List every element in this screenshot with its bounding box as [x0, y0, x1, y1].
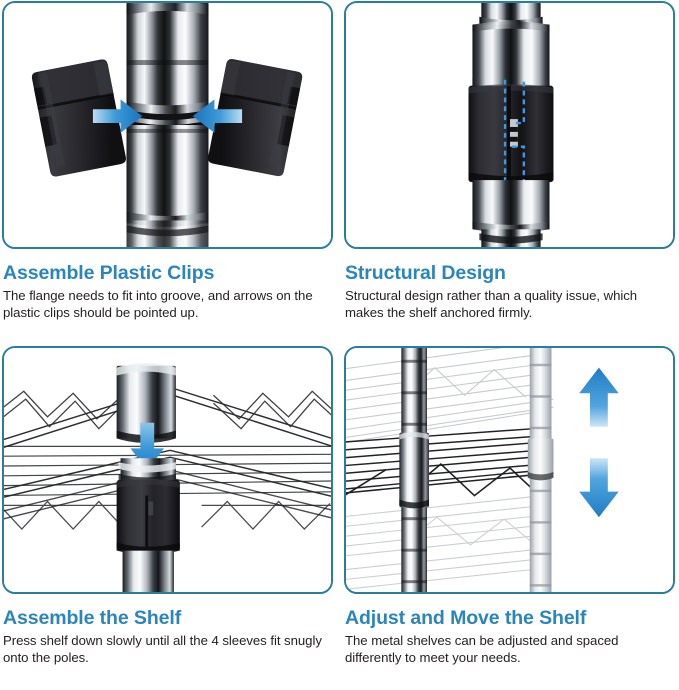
illustration-panel-structural: [344, 1, 675, 249]
step-card-assemble-the-shelf: Assemble the Shelf Press shelf down slow…: [0, 345, 337, 690]
panel-body-text: The metal shelves can be adjusted and sp…: [345, 633, 672, 667]
pole-left: [399, 348, 429, 592]
assembled-black-sleeve-on-pole-illustration: [346, 3, 673, 247]
panel-heading: Assemble the Shelf: [3, 608, 333, 630]
panel-grid: Assemble Plastic Clips The flange needs …: [0, 0, 679, 690]
panel-heading: Adjust and Move the Shelf: [345, 608, 675, 630]
step-card-adjust-and-move: Adjust and Move the Shelf The metal shel…: [342, 345, 679, 690]
panel-body-text: Structural design rather than a quality …: [345, 288, 672, 322]
pole-right: [528, 348, 554, 592]
panel-heading: Structural Design: [345, 263, 675, 285]
pole-upper-section: [127, 3, 209, 116]
caption-block-adjust: Adjust and Move the Shelf The metal shel…: [345, 608, 675, 667]
illustration-panel-adjust: [344, 346, 675, 594]
caption-block-clips: Assemble Plastic Clips The flange needs …: [3, 263, 333, 322]
panel-body-text: Press shelf down slowly until all the 4 …: [3, 633, 330, 667]
assembled-black-sleeve: [469, 84, 554, 184]
pole-lower-wide: [472, 180, 549, 247]
chrome-pole-with-two-black-clips-illustration: [4, 3, 331, 247]
wire-shelf-pressed-onto-pole-illustration: [4, 348, 331, 592]
caption-block-shelf-press: Assemble the Shelf Press shelf down slow…: [3, 608, 333, 667]
illustration-panel-clips: [2, 1, 333, 249]
step-card-structural-design: Structural Design Structural design rath…: [342, 0, 679, 345]
pole-upper-wide: [472, 21, 549, 89]
pole-with-black-clip: [117, 458, 180, 592]
panel-body-text: The flange needs to fit into groove, and…: [3, 288, 330, 322]
shelving-unit-height-adjustment-illustration: [346, 348, 673, 592]
caption-block-structural: Structural Design Structural design rath…: [345, 263, 675, 322]
illustration-panel-shelf-press: [2, 346, 333, 594]
pole-lower-section: [127, 125, 209, 247]
infographic-sheet: Assemble Plastic Clips The flange needs …: [0, 0, 679, 690]
step-card-assemble-plastic-clips: Assemble Plastic Clips The flange needs …: [0, 0, 337, 345]
panel-heading: Assemble Plastic Clips: [3, 263, 333, 285]
